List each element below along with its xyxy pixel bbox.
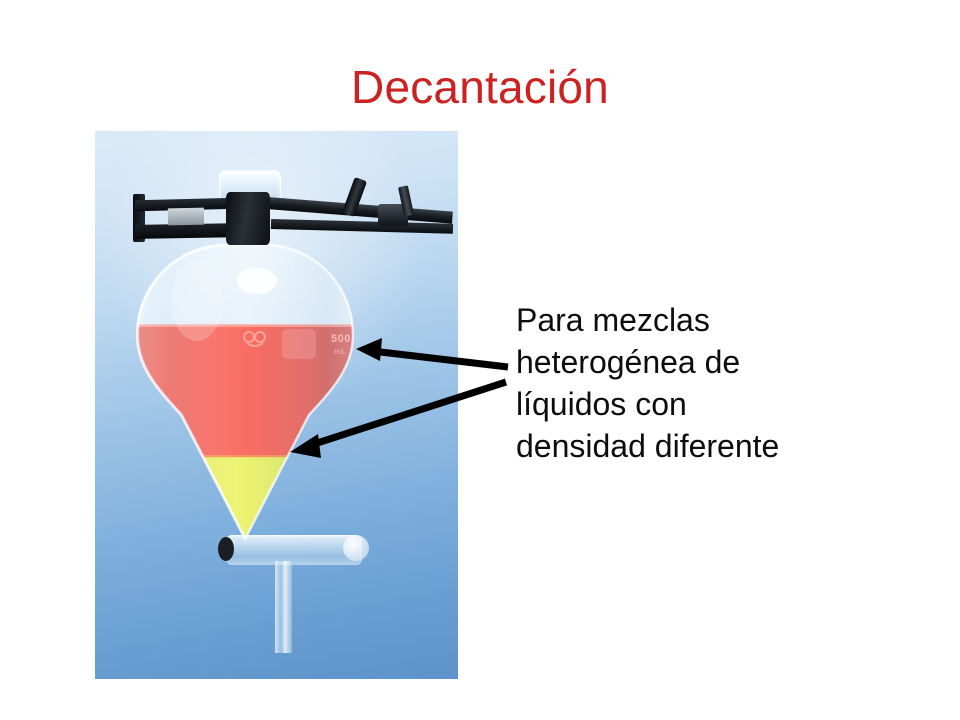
funnel-body — [123, 239, 371, 545]
clamp-pad-icon — [168, 208, 204, 226]
page-title: Decantación — [0, 62, 960, 113]
stopcock-plug-icon — [218, 537, 234, 561]
slide-canvas: Decantación — [0, 0, 960, 720]
body-line-1: Para mezclas — [516, 299, 916, 341]
body-text: Para mezclas heterogénea de líquidos con… — [516, 299, 916, 467]
drain-tube — [275, 561, 292, 653]
stopcock-handle-icon — [343, 535, 369, 561]
glass-label-patch — [282, 329, 316, 359]
stopcock-barrel — [226, 535, 362, 565]
body-line-2: heterogénea de — [516, 341, 916, 383]
body-line-4: densidad diferente — [516, 425, 916, 467]
clamp-collar-icon — [226, 192, 270, 245]
manufacturer-logo-icon — [243, 331, 269, 349]
body-line-3: líquidos con — [516, 383, 916, 425]
separatory-funnel-photo: 500 mL — [95, 131, 458, 679]
